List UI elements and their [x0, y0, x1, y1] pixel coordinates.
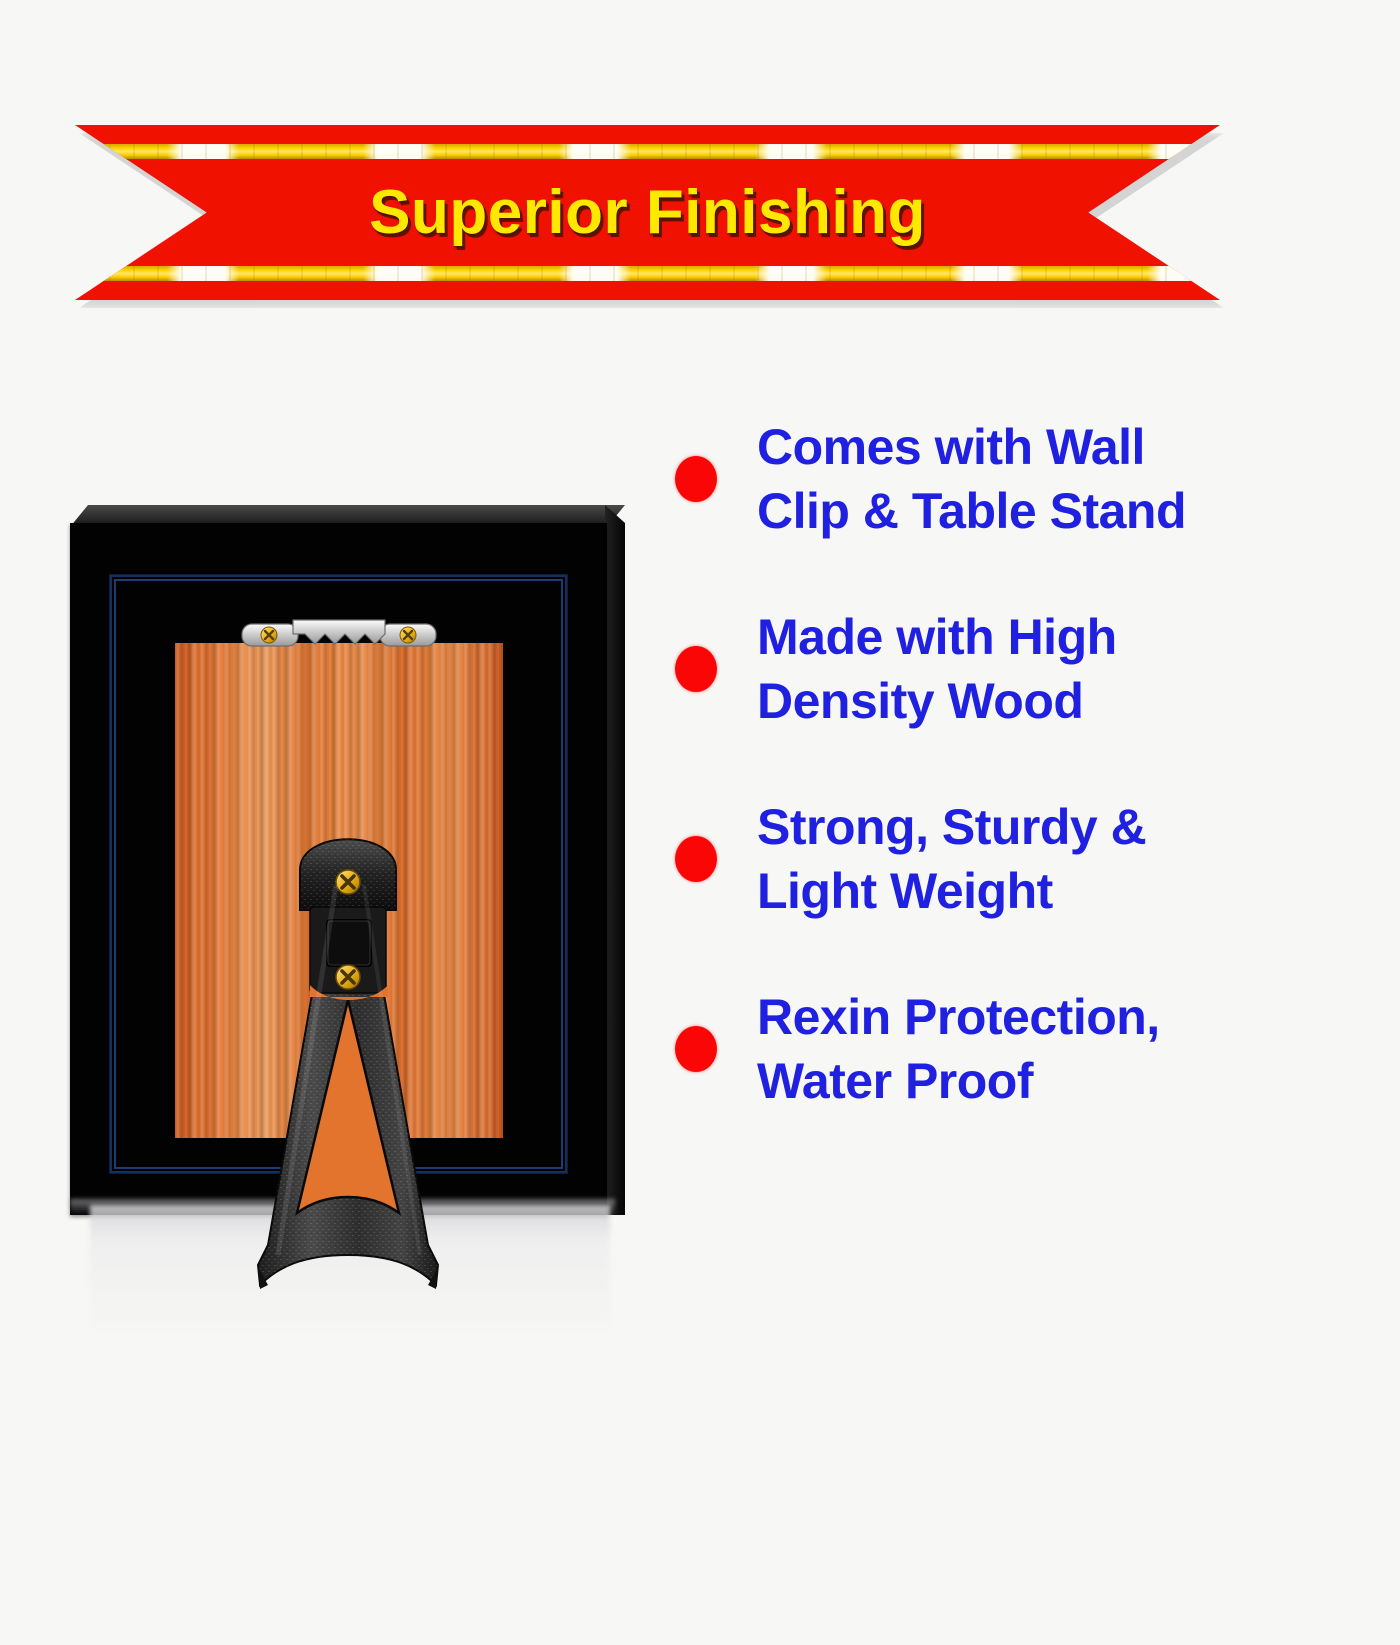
feature-label: Strong, Sturdy & Light Weight: [757, 795, 1146, 923]
stripe-texture-top: [75, 144, 1220, 159]
stripe-texture-bottom: [75, 266, 1220, 281]
feature-label: Rexin Protection, Water Proof: [757, 985, 1160, 1113]
feature-label: Comes with Wall Clip & Table Stand: [757, 415, 1186, 543]
banner-body: Superior Finishing: [75, 125, 1220, 300]
list-item: Strong, Sturdy & Light Weight: [675, 795, 1335, 923]
table-stand-easel-icon: [238, 815, 458, 1335]
bullet-dot-icon: [675, 1026, 717, 1072]
banner-stripe-bottom: [75, 266, 1220, 281]
list-item: Made with High Density Wood: [675, 605, 1335, 733]
list-item: Comes with Wall Clip & Table Stand: [675, 415, 1335, 543]
frame-side-edge: [605, 505, 625, 1215]
product-image: [70, 505, 640, 1360]
sawtooth-wall-hanger-icon: [241, 618, 437, 648]
banner-ribbon: Superior Finishing: [75, 125, 1220, 300]
feature-label: Made with High Density Wood: [757, 605, 1117, 733]
list-item: Rexin Protection, Water Proof: [675, 985, 1335, 1113]
feature-list: Comes with Wall Clip & Table Stand Made …: [675, 415, 1335, 1113]
bullet-dot-icon: [675, 836, 717, 882]
banner-stripe-top: [75, 144, 1220, 159]
banner-title: Superior Finishing: [369, 177, 926, 248]
bullet-dot-icon: [675, 456, 717, 502]
bullet-dot-icon: [675, 646, 717, 692]
product-feature-page: Superior Finishing: [0, 0, 1400, 1645]
